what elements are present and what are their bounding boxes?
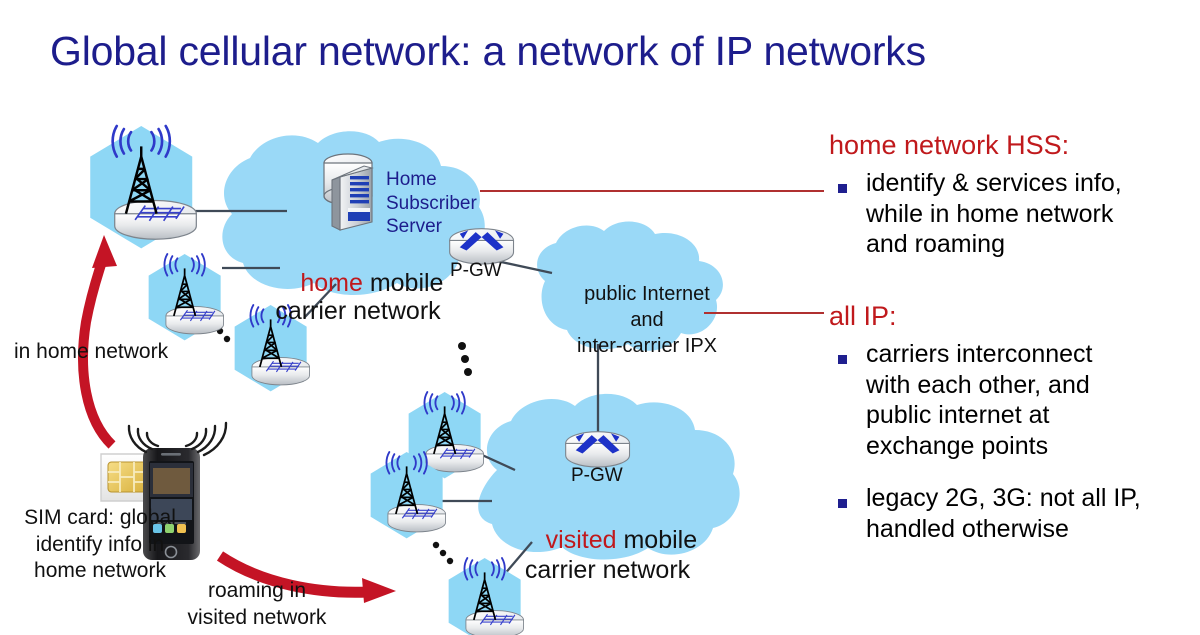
annotation-bullet-allip-2: legacy 2G, 3G: not all IP, handled other…: [866, 483, 1176, 544]
home-network-label-emphasis: home: [300, 269, 363, 297]
public-internet-label: public Internet and inter-carrier IPX: [552, 281, 742, 359]
caption-sim-card: SIM card: global identify info in home n…: [10, 505, 190, 585]
visited-network-label-emphasis: visited: [546, 526, 617, 554]
home-network-label: home mobile carrier network: [258, 240, 458, 354]
pgw-label-visited: P-GW: [571, 465, 623, 487]
caption-roaming: roaming in visited network: [172, 578, 342, 631]
curved-right-arrow-head: [362, 578, 396, 603]
cell-tower-icon: [90, 126, 196, 248]
router-icon: [566, 432, 630, 467]
bullet-marker: [838, 355, 847, 364]
bullet-marker: [838, 499, 847, 508]
page-title: Global cellular network: a network of IP…: [50, 28, 926, 75]
cell-tower-icon: [149, 254, 224, 340]
annotation-heading-hss: home network HSS:: [829, 130, 1069, 161]
hss-label: Home Subscriber Server: [386, 168, 477, 239]
slide-canvas: Global cellular network: a network of IP…: [0, 0, 1200, 635]
annotation-bullet-allip-1: carriers interconnect with each other, a…: [866, 339, 1166, 461]
curved-up-arrow-head: [92, 235, 117, 268]
pgw-label-home: P-GW: [450, 260, 502, 282]
annotation-heading-all-ip: all IP:: [829, 301, 897, 332]
caption-in-home-network: in home network: [14, 340, 168, 364]
ellipsis-visited-towers: [433, 542, 453, 564]
ellipsis-middle: [458, 342, 472, 376]
bullet-marker: [838, 184, 847, 193]
visited-network-label: visited mobile carrier network: [500, 495, 715, 615]
annotation-bullet-hss-1: identify & services info, while in home …: [866, 168, 1176, 260]
